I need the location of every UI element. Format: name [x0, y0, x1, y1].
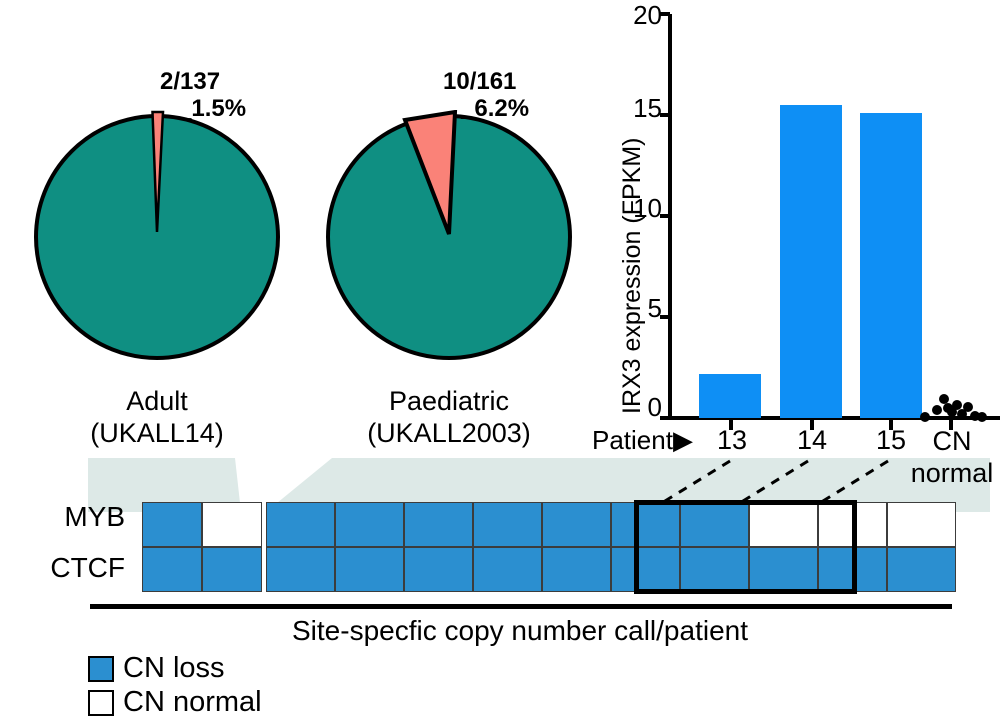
- x-tick-label-14: 14: [786, 425, 838, 456]
- figure-canvas: 2/137 _1.5% Adult (UKALL14) 10/161 _6.2%…: [0, 0, 1000, 720]
- heatmap-baseline-rule: [90, 604, 952, 609]
- heatmap-cell-paed-ctcf-5[interactable]: [542, 547, 611, 592]
- x-tick-label-cn: CN: [906, 425, 998, 457]
- heatmap-cell-paed-myb-5[interactable]: [542, 502, 611, 547]
- pie-paediatric-label-line2: (UKALL2003): [318, 417, 580, 449]
- pie-paediatric-callout: 10/161 _6.2%: [443, 68, 529, 122]
- pie-adult-label: Adult (UKALL14): [45, 385, 269, 449]
- legend-label-cn-loss: CN loss: [123, 654, 225, 683]
- heatmap-caption: Site-specfic copy number call/patient: [190, 615, 850, 647]
- heatmap-cell-paed-myb-3[interactable]: [404, 502, 473, 547]
- legend-item-cn-normal: CN normal: [88, 688, 262, 717]
- heatmap-cell-paed-myb-2[interactable]: [335, 502, 404, 547]
- heatmap-cell-paed-myb-1[interactable]: [266, 502, 335, 547]
- heatmap-cell-paed-ctcf-2[interactable]: [335, 547, 404, 592]
- bar-patient-14: [780, 105, 842, 418]
- heatmap-cell-paed-ctcf-1[interactable]: [266, 547, 335, 592]
- pie-adult-callout-line1: 2/137: [160, 68, 220, 95]
- pie-adult-callout-line2: _1.5%: [160, 95, 246, 122]
- x-tick-label-13: 13: [706, 425, 758, 456]
- heatmap-cell-adult-ctcf-1[interactable]: [142, 547, 202, 592]
- heatmap-highlight-box: [634, 500, 857, 594]
- x-axis-title-text: Patient: [592, 425, 673, 455]
- pie-paediatric-callout-line2: _6.2%: [443, 95, 529, 122]
- pie-chart-paediatric: [322, 110, 576, 364]
- heatmap-cell-paed-ctcf-3[interactable]: [404, 547, 473, 592]
- legend-swatch-cn-loss: [88, 656, 114, 682]
- heatmap-cell-adult-myb-1[interactable]: [142, 502, 202, 547]
- copy-number-heatmap: MYB CTCF Site-specfic copy number cal: [0, 470, 1000, 720]
- pie-paediatric-label-line1: Paediatric: [318, 385, 580, 417]
- heatmap-cell-paed-myb-10[interactable]: [887, 502, 956, 547]
- pie-paediatric-label: Paediatric (UKALL2003): [318, 385, 580, 449]
- legend-item-cn-loss: CN loss: [88, 654, 225, 683]
- bar-patient-13: [699, 374, 761, 418]
- heatmap-cell-paed-ctcf-10[interactable]: [887, 547, 956, 592]
- bar-patient-15: [860, 113, 922, 418]
- bar-chart: IRX3 expression (FPKM) 20 15 10 5 0: [596, 0, 1000, 470]
- x-axis-title: Patient▶: [592, 425, 693, 456]
- heatmap-cell-adult-ctcf-2[interactable]: [202, 547, 262, 592]
- triangle-right-icon: ▶: [673, 425, 693, 455]
- legend-label-cn-normal: CN normal: [123, 688, 262, 717]
- pie-adult-label-line1: Adult: [45, 385, 269, 417]
- pie-adult-label-line2: (UKALL14): [45, 417, 269, 449]
- heatmap-cell-paed-ctcf-4[interactable]: [473, 547, 542, 592]
- heatmap-row-label-ctcf: CTCF: [0, 552, 125, 584]
- pie-paediatric-callout-line1: 10/161: [443, 68, 516, 95]
- heatmap-cell-adult-myb-2[interactable]: [202, 502, 262, 547]
- pie-chart-adult: [30, 110, 284, 364]
- legend-swatch-cn-normal: [88, 690, 114, 716]
- bar-chart-plot: [596, 0, 1000, 440]
- heatmap-cell-paed-myb-4[interactable]: [473, 502, 542, 547]
- pie-adult-callout: 2/137 _1.5%: [160, 68, 246, 122]
- heatmap-row-label-myb: MYB: [0, 501, 125, 533]
